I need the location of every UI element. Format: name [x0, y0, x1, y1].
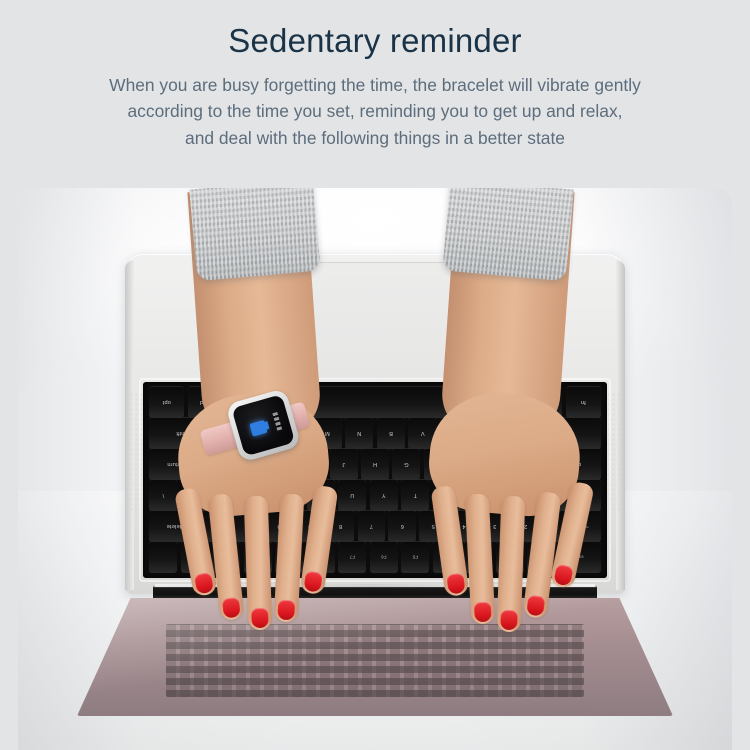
key-fn: fn — [566, 387, 601, 418]
key-7: 7 — [358, 511, 386, 542]
key-label: 6 — [388, 524, 416, 530]
key-y: Y — [370, 480, 398, 511]
key-f5: F5 — [401, 542, 429, 573]
product-feature-page: Sedentary reminder When you are busy for… — [0, 0, 750, 750]
watch-indicator-glyph — [272, 412, 282, 431]
left-nail-4 — [277, 599, 295, 620]
subtitle-line-1: When you are busy forgetting the time, t… — [18, 72, 732, 98]
key-label: N — [345, 431, 374, 437]
left-finger-3 — [244, 496, 273, 631]
left-nail-1 — [194, 572, 215, 595]
right-nail-5 — [553, 564, 574, 587]
key-j: J — [330, 449, 358, 480]
page-subtitle: When you are busy forgetting the time, t… — [0, 72, 750, 151]
key-label: F6 — [370, 555, 398, 560]
key-u: U — [338, 480, 366, 511]
screen-gloss — [77, 598, 673, 716]
key-opt: opt — [149, 387, 184, 418]
laptop-screen — [77, 598, 673, 716]
key-label: H — [361, 462, 389, 468]
subtitle-line-2: according to the time you set, reminding… — [18, 98, 732, 124]
key--: \ — [149, 480, 177, 511]
key-label: \ — [149, 493, 177, 499]
right-nail-4 — [526, 595, 545, 617]
page-title: Sedentary reminder — [0, 22, 750, 61]
right-nail-1 — [446, 572, 466, 594]
vibration-alert-icon — [249, 420, 267, 437]
product-photo: escF1F2F3F4F5F6F7F8F9F10F11F12~123456789… — [18, 188, 732, 750]
sweater-sleeve-right — [442, 188, 574, 281]
key-label: B — [377, 431, 406, 437]
key-label: opt — [149, 400, 184, 406]
key-label: fn — [566, 400, 601, 406]
left-nail-3 — [251, 608, 269, 629]
key-label: F7 — [338, 555, 366, 560]
right-finger-3 — [497, 496, 526, 633]
key-label: T — [401, 493, 429, 499]
key-t: T — [401, 480, 429, 511]
header-text-block: Sedentary reminder When you are busy for… — [0, 0, 750, 151]
key-6: 6 — [388, 511, 416, 542]
key-h: H — [361, 449, 389, 480]
sweater-sleeve-left — [189, 188, 321, 281]
key-label: Y — [370, 493, 398, 499]
right-nail-2 — [474, 601, 492, 622]
watch-screen — [231, 394, 295, 456]
key-blank — [149, 542, 177, 573]
key-f6: F6 — [370, 542, 398, 573]
key-label: U — [338, 493, 366, 499]
key-label: 7 — [358, 524, 386, 530]
key-b: B — [377, 418, 406, 449]
right-nail-3 — [500, 610, 518, 631]
key-label: F5 — [401, 555, 429, 560]
key-f7: F7 — [338, 542, 366, 573]
left-nail-5 — [303, 571, 323, 593]
key-g: G — [392, 449, 420, 480]
subtitle-line-3: and deal with the following things in a … — [18, 125, 732, 151]
key-n: N — [345, 418, 374, 449]
key-label: G — [392, 462, 420, 468]
left-nail-2 — [222, 597, 241, 619]
key-label: J — [330, 462, 358, 468]
